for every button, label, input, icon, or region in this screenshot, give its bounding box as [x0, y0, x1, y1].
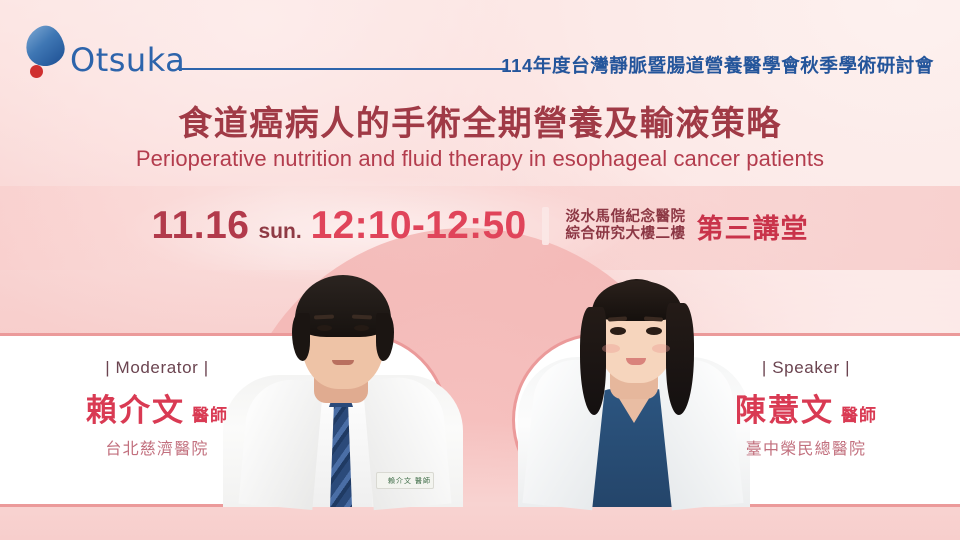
speaker-role-label: | Speaker | [696, 358, 916, 378]
page-title-zh: 食道癌病人的手術全期營養及輸液策略 [0, 96, 960, 145]
date-time-group: 11.16 sun. 12:10-12:50 [152, 204, 527, 248]
moderator-name: 賴介文 [86, 385, 185, 430]
moderator-affiliation: 台北慈濟醫院 [52, 435, 262, 459]
moderator-info: | Moderator | 賴介文 醫師 台北慈濟醫院 [52, 358, 262, 459]
otsuka-logo-text: Otsuka [70, 44, 185, 78]
event-name: 114年度台灣靜脈暨腸道營養醫學會秋季學術研討會 [501, 52, 934, 78]
header-divider-line [178, 68, 508, 70]
otsuka-drop-icon [22, 26, 68, 78]
moderator-name-line: 賴介文 醫師 [52, 385, 262, 430]
event-time: 12:10-12:50 [311, 204, 527, 248]
venue-line-2: 綜合研究大樓二樓 [565, 226, 685, 243]
venue-address: 淡水馬偕紀念醫院 綜合研究大樓二樓 [565, 209, 685, 243]
speaker-affiliation: 臺中榮民總醫院 [696, 435, 916, 459]
event-date: 11.16 [152, 204, 250, 248]
speaker-title: 醫師 [841, 401, 877, 426]
venue-line-1: 淡水馬偕紀念醫院 [565, 209, 685, 226]
otsuka-logo: Otsuka [22, 26, 185, 78]
moderator-role-label: | Moderator | [52, 358, 262, 378]
moderator-title: 醫師 [192, 401, 228, 426]
venue-hall: 第三講堂 [696, 207, 808, 246]
drop-shape [22, 22, 67, 69]
event-weekday: sun. [258, 220, 301, 244]
vertical-separator [542, 207, 549, 245]
schedule-row: 11.16 sun. 12:10-12:50 淡水馬偕紀念醫院 綜合研究大樓二樓… [0, 196, 960, 256]
seminar-poster: Otsuka 114年度台灣靜脈暨腸道營養醫學會秋季學術研討會 食道癌病人的手術… [0, 0, 960, 540]
page-title-en: Perioperative nutrition and fluid therap… [0, 146, 960, 172]
speaker-name-line: 陳薏文 醫師 [696, 385, 916, 430]
speaker-info: | Speaker | 陳薏文 醫師 臺中榮民總醫院 [696, 358, 916, 459]
venue-group: 淡水馬偕紀念醫院 綜合研究大樓二樓 第三講堂 [565, 207, 808, 246]
red-dot-icon [30, 65, 43, 78]
speaker-name: 陳薏文 [735, 385, 834, 430]
